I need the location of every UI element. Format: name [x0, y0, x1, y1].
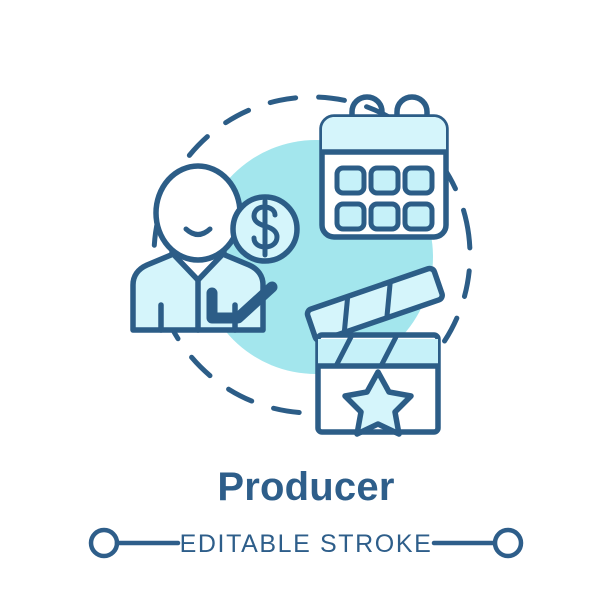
caption-left-circle-icon [91, 530, 117, 556]
calendar-cell [405, 168, 432, 193]
calendar-cell [337, 204, 364, 229]
producer-concept-illustration: Producer EDITABLE STROKE [0, 0, 612, 612]
calendar-icon [322, 97, 446, 237]
calendar-cell [371, 204, 398, 229]
editable-stroke-row: EDITABLE STROKE [91, 530, 521, 558]
dollar-coin-icon [233, 197, 297, 261]
page-title: Producer [217, 465, 394, 509]
caption-label: EDITABLE STROKE [180, 530, 433, 558]
calendar-header-band [322, 117, 446, 152]
calendar-cell [337, 168, 364, 193]
caption-right-circle-icon [495, 530, 521, 556]
icon-canvas: Producer EDITABLE STROKE [0, 0, 612, 612]
calendar-cell [405, 204, 432, 229]
person-head [156, 166, 240, 260]
calendar-cell [371, 168, 398, 193]
